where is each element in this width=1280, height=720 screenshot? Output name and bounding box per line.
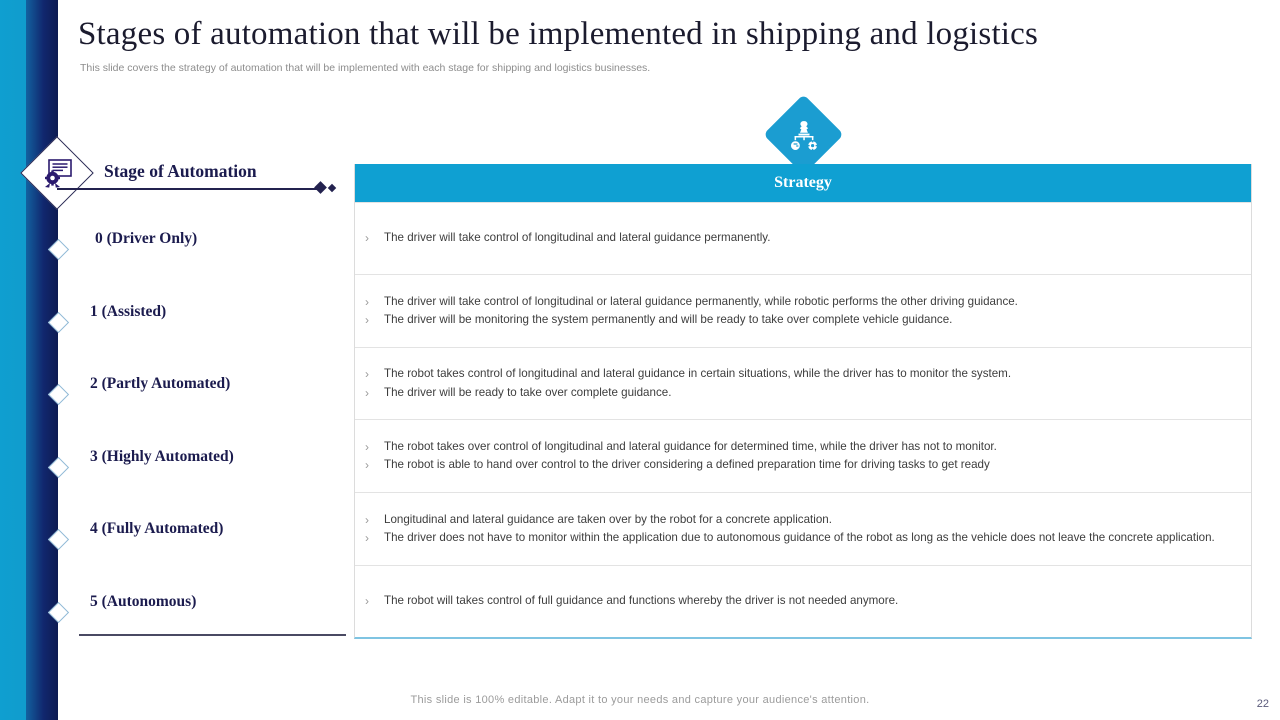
strategy-row-5[interactable]: › The robot will takes control of full g…: [355, 565, 1251, 637]
bullet-text: The robot will takes control of full gui…: [384, 592, 1237, 611]
chevron-right-icon: ›: [365, 456, 384, 475]
bullet-text: The driver will be monitoring the system…: [384, 311, 1237, 330]
strategy-row-4[interactable]: › Longitudinal and lateral guidance are …: [355, 492, 1251, 565]
bullet-item: › The driver will be monitoring the syst…: [365, 311, 1251, 330]
bullet-item: › The driver will take control of longit…: [365, 293, 1251, 312]
strategy-table-header: Strategy: [355, 164, 1251, 202]
stage-label-0: 0 (Driver Only): [95, 230, 197, 248]
stage-header-label: Stage of Automation: [104, 161, 257, 182]
stage-marker-diamond: [48, 239, 69, 260]
bullet-text: The robot takes over control of longitud…: [384, 438, 1237, 457]
bullet-item: › The robot will takes control of full g…: [365, 592, 1251, 611]
page-title: Stages of automation that will be implem…: [78, 14, 1198, 54]
chevron-right-icon: ›: [365, 592, 384, 611]
strategy-row-0[interactable]: › The driver will take control of longit…: [355, 202, 1251, 274]
certificate-gear-icon: [42, 158, 74, 188]
stage-row-2[interactable]: 2 (Partly Automated): [0, 351, 350, 424]
chevron-right-icon: ›: [365, 529, 384, 548]
chevron-right-icon: ›: [365, 229, 384, 248]
stage-marker-diamond: [48, 384, 69, 405]
stage-marker-diamond: [48, 456, 69, 477]
strategy-table: Strategy › The driver will take control …: [354, 164, 1252, 639]
bullet-item: › The robot takes over control of longit…: [365, 438, 1251, 457]
bullet-item: › Longitudinal and lateral guidance are …: [365, 511, 1251, 530]
stage-marker-diamond: [48, 311, 69, 332]
stage-list: 0 (Driver Only) 1 (Assisted) 2 (Partly A…: [0, 206, 350, 636]
stage-row-4[interactable]: 4 (Fully Automated): [0, 496, 350, 569]
bullet-item: › The driver will be ready to take over …: [365, 384, 1251, 403]
bullet-text: The driver does not have to monitor with…: [384, 529, 1237, 548]
strategy-chess-network-icon: [787, 119, 821, 151]
stage-label-1: 1 (Assisted): [90, 303, 166, 321]
bullet-item: › The robot takes control of longitudina…: [365, 365, 1251, 384]
bullet-item: › The driver will take control of longit…: [365, 229, 1251, 248]
stage-marker-diamond: [48, 601, 69, 622]
bullet-item: › The robot is able to hand over control…: [365, 456, 1251, 475]
stage-label-5: 5 (Autonomous): [90, 593, 196, 611]
footer-note: This slide is 100% editable. Adapt it to…: [0, 694, 1280, 706]
strategy-row-2[interactable]: › The robot takes control of longitudina…: [355, 347, 1251, 419]
stage-row-3[interactable]: 3 (Highly Automated): [0, 424, 350, 497]
strategy-row-1[interactable]: › The driver will take control of longit…: [355, 274, 1251, 347]
strategy-row-3[interactable]: › The robot takes over control of longit…: [355, 419, 1251, 492]
bullet-item: › The driver does not have to monitor wi…: [365, 529, 1251, 548]
stage-header-underline: [57, 188, 320, 190]
chevron-right-icon: ›: [365, 365, 384, 384]
bullet-text: The robot is able to hand over control t…: [384, 456, 1237, 475]
stage-marker-diamond: [48, 529, 69, 550]
stage-list-bottom-rule: [79, 634, 346, 636]
stage-label-4: 4 (Fully Automated): [90, 520, 223, 538]
stage-row-0[interactable]: 0 (Driver Only): [0, 206, 350, 279]
page-number: 22: [1257, 698, 1269, 710]
bullet-text: Longitudinal and lateral guidance are ta…: [384, 511, 1237, 530]
chevron-right-icon: ›: [365, 511, 384, 530]
chevron-right-icon: ›: [365, 438, 384, 457]
chevron-right-icon: ›: [365, 384, 384, 403]
stage-of-automation-header: Stage of Automation: [28, 144, 348, 204]
stage-label-3: 3 (Highly Automated): [90, 448, 234, 466]
bullet-text: The robot takes control of longitudinal …: [384, 365, 1237, 384]
stage-header-rule-diamond-small: [328, 184, 336, 192]
bullet-text: The driver will take control of longitud…: [384, 293, 1237, 312]
bullet-text: The driver will take control of longitud…: [384, 229, 1237, 248]
chevron-right-icon: ›: [365, 311, 384, 330]
page-subtitle: This slide covers the strategy of automa…: [80, 61, 1190, 75]
stage-header-rule-diamond-large: [314, 181, 327, 194]
stage-row-1[interactable]: 1 (Assisted): [0, 279, 350, 352]
stage-row-5[interactable]: 5 (Autonomous): [0, 569, 350, 642]
stage-label-2: 2 (Partly Automated): [90, 375, 230, 393]
bullet-text: The driver will be ready to take over co…: [384, 384, 1237, 403]
chevron-right-icon: ›: [365, 293, 384, 312]
